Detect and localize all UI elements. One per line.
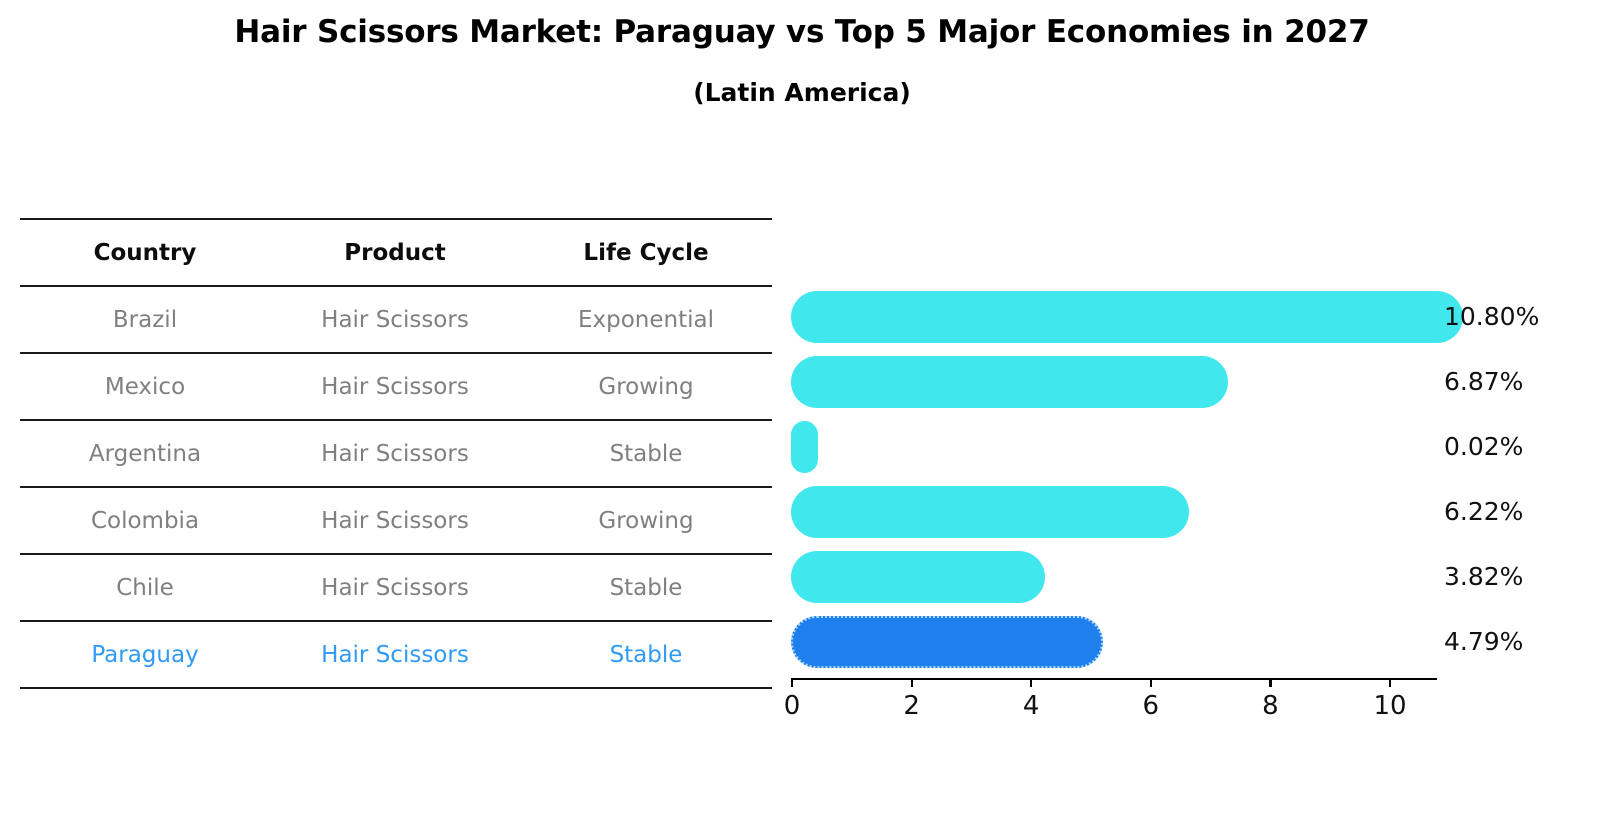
x-tick-mark	[911, 678, 913, 687]
bar	[791, 291, 1463, 343]
cell-product: Hair Scissors	[270, 420, 520, 487]
cell-product: Hair Scissors	[270, 621, 520, 688]
cell-product: Hair Scissors	[270, 554, 520, 621]
table-row[interactable]: Colombia Hair Scissors Growing	[20, 487, 772, 554]
cell-life-cycle: Growing	[520, 487, 772, 554]
table-head: Country Product Life Cycle	[20, 219, 772, 286]
cell-country: Paraguay	[20, 621, 270, 688]
table-row[interactable]: Brazil Hair Scissors Exponential	[20, 286, 772, 353]
page-subtitle: (Latin America)	[0, 78, 1604, 107]
x-tick-mark	[1269, 678, 1271, 687]
cell-life-cycle: Growing	[520, 353, 772, 420]
x-tick-label: 4	[1023, 691, 1040, 721]
x-tick-mark	[791, 678, 793, 687]
chart-canvas: Hair Scissors Market: Paraguay vs Top 5 …	[0, 0, 1604, 823]
table-row[interactable]: Argentina Hair Scissors Stable	[20, 420, 772, 487]
bar-value-label: 6.22%	[1444, 499, 1523, 524]
table-bottom-rule	[20, 688, 772, 689]
data-table-wrapper: Country Product Life Cycle Brazil Hair S…	[20, 218, 772, 689]
cell-country: Chile	[20, 554, 270, 621]
page-title: Hair Scissors Market: Paraguay vs Top 5 …	[0, 14, 1604, 50]
bar-highlighted	[791, 616, 1103, 668]
x-tick-mark	[1150, 678, 1152, 687]
data-table: Country Product Life Cycle Brazil Hair S…	[20, 218, 772, 689]
cell-life-cycle: Stable	[520, 621, 772, 688]
rule-cell	[520, 688, 772, 689]
rule-cell	[270, 688, 520, 689]
cell-product: Hair Scissors	[270, 487, 520, 554]
table-header-row: Country Product Life Cycle	[20, 219, 772, 286]
cell-life-cycle: Exponential	[520, 286, 772, 353]
bar-value-label: 4.79%	[1444, 629, 1523, 654]
x-tick-label: 6	[1143, 691, 1160, 721]
x-tick-mark	[1030, 678, 1032, 687]
cell-product: Hair Scissors	[270, 353, 520, 420]
x-tick-label: 10	[1373, 691, 1406, 721]
column-header-product: Product	[270, 219, 520, 286]
bar	[791, 421, 818, 473]
x-tick-label: 2	[903, 691, 920, 721]
bar	[791, 356, 1228, 408]
table-row[interactable]: Mexico Hair Scissors Growing	[20, 353, 772, 420]
column-header-country: Country	[20, 219, 270, 286]
bar	[791, 551, 1045, 603]
bar-value-label: 6.87%	[1444, 369, 1523, 394]
cell-country: Mexico	[20, 353, 270, 420]
table-body: Brazil Hair Scissors Exponential Mexico …	[20, 286, 772, 689]
cell-life-cycle: Stable	[520, 554, 772, 621]
x-axis-line	[791, 678, 1437, 680]
x-tick-mark	[1389, 678, 1391, 687]
cell-country: Colombia	[20, 487, 270, 554]
bar	[791, 486, 1189, 538]
table-row-highlighted[interactable]: Paraguay Hair Scissors Stable	[20, 621, 772, 688]
x-tick-label: 8	[1262, 691, 1279, 721]
table-row[interactable]: Chile Hair Scissors Stable	[20, 554, 772, 621]
column-header-life-cycle: Life Cycle	[520, 219, 772, 286]
cell-country: Argentina	[20, 420, 270, 487]
cell-life-cycle: Stable	[520, 420, 772, 487]
rule-cell	[20, 688, 270, 689]
x-tick-label: 0	[784, 691, 801, 721]
cell-product: Hair Scissors	[270, 286, 520, 353]
cell-country: Brazil	[20, 286, 270, 353]
bar-value-label: 3.82%	[1444, 564, 1523, 589]
bar-value-label: 0.02%	[1444, 434, 1523, 459]
bar-value-label: 10.80%	[1444, 304, 1539, 329]
